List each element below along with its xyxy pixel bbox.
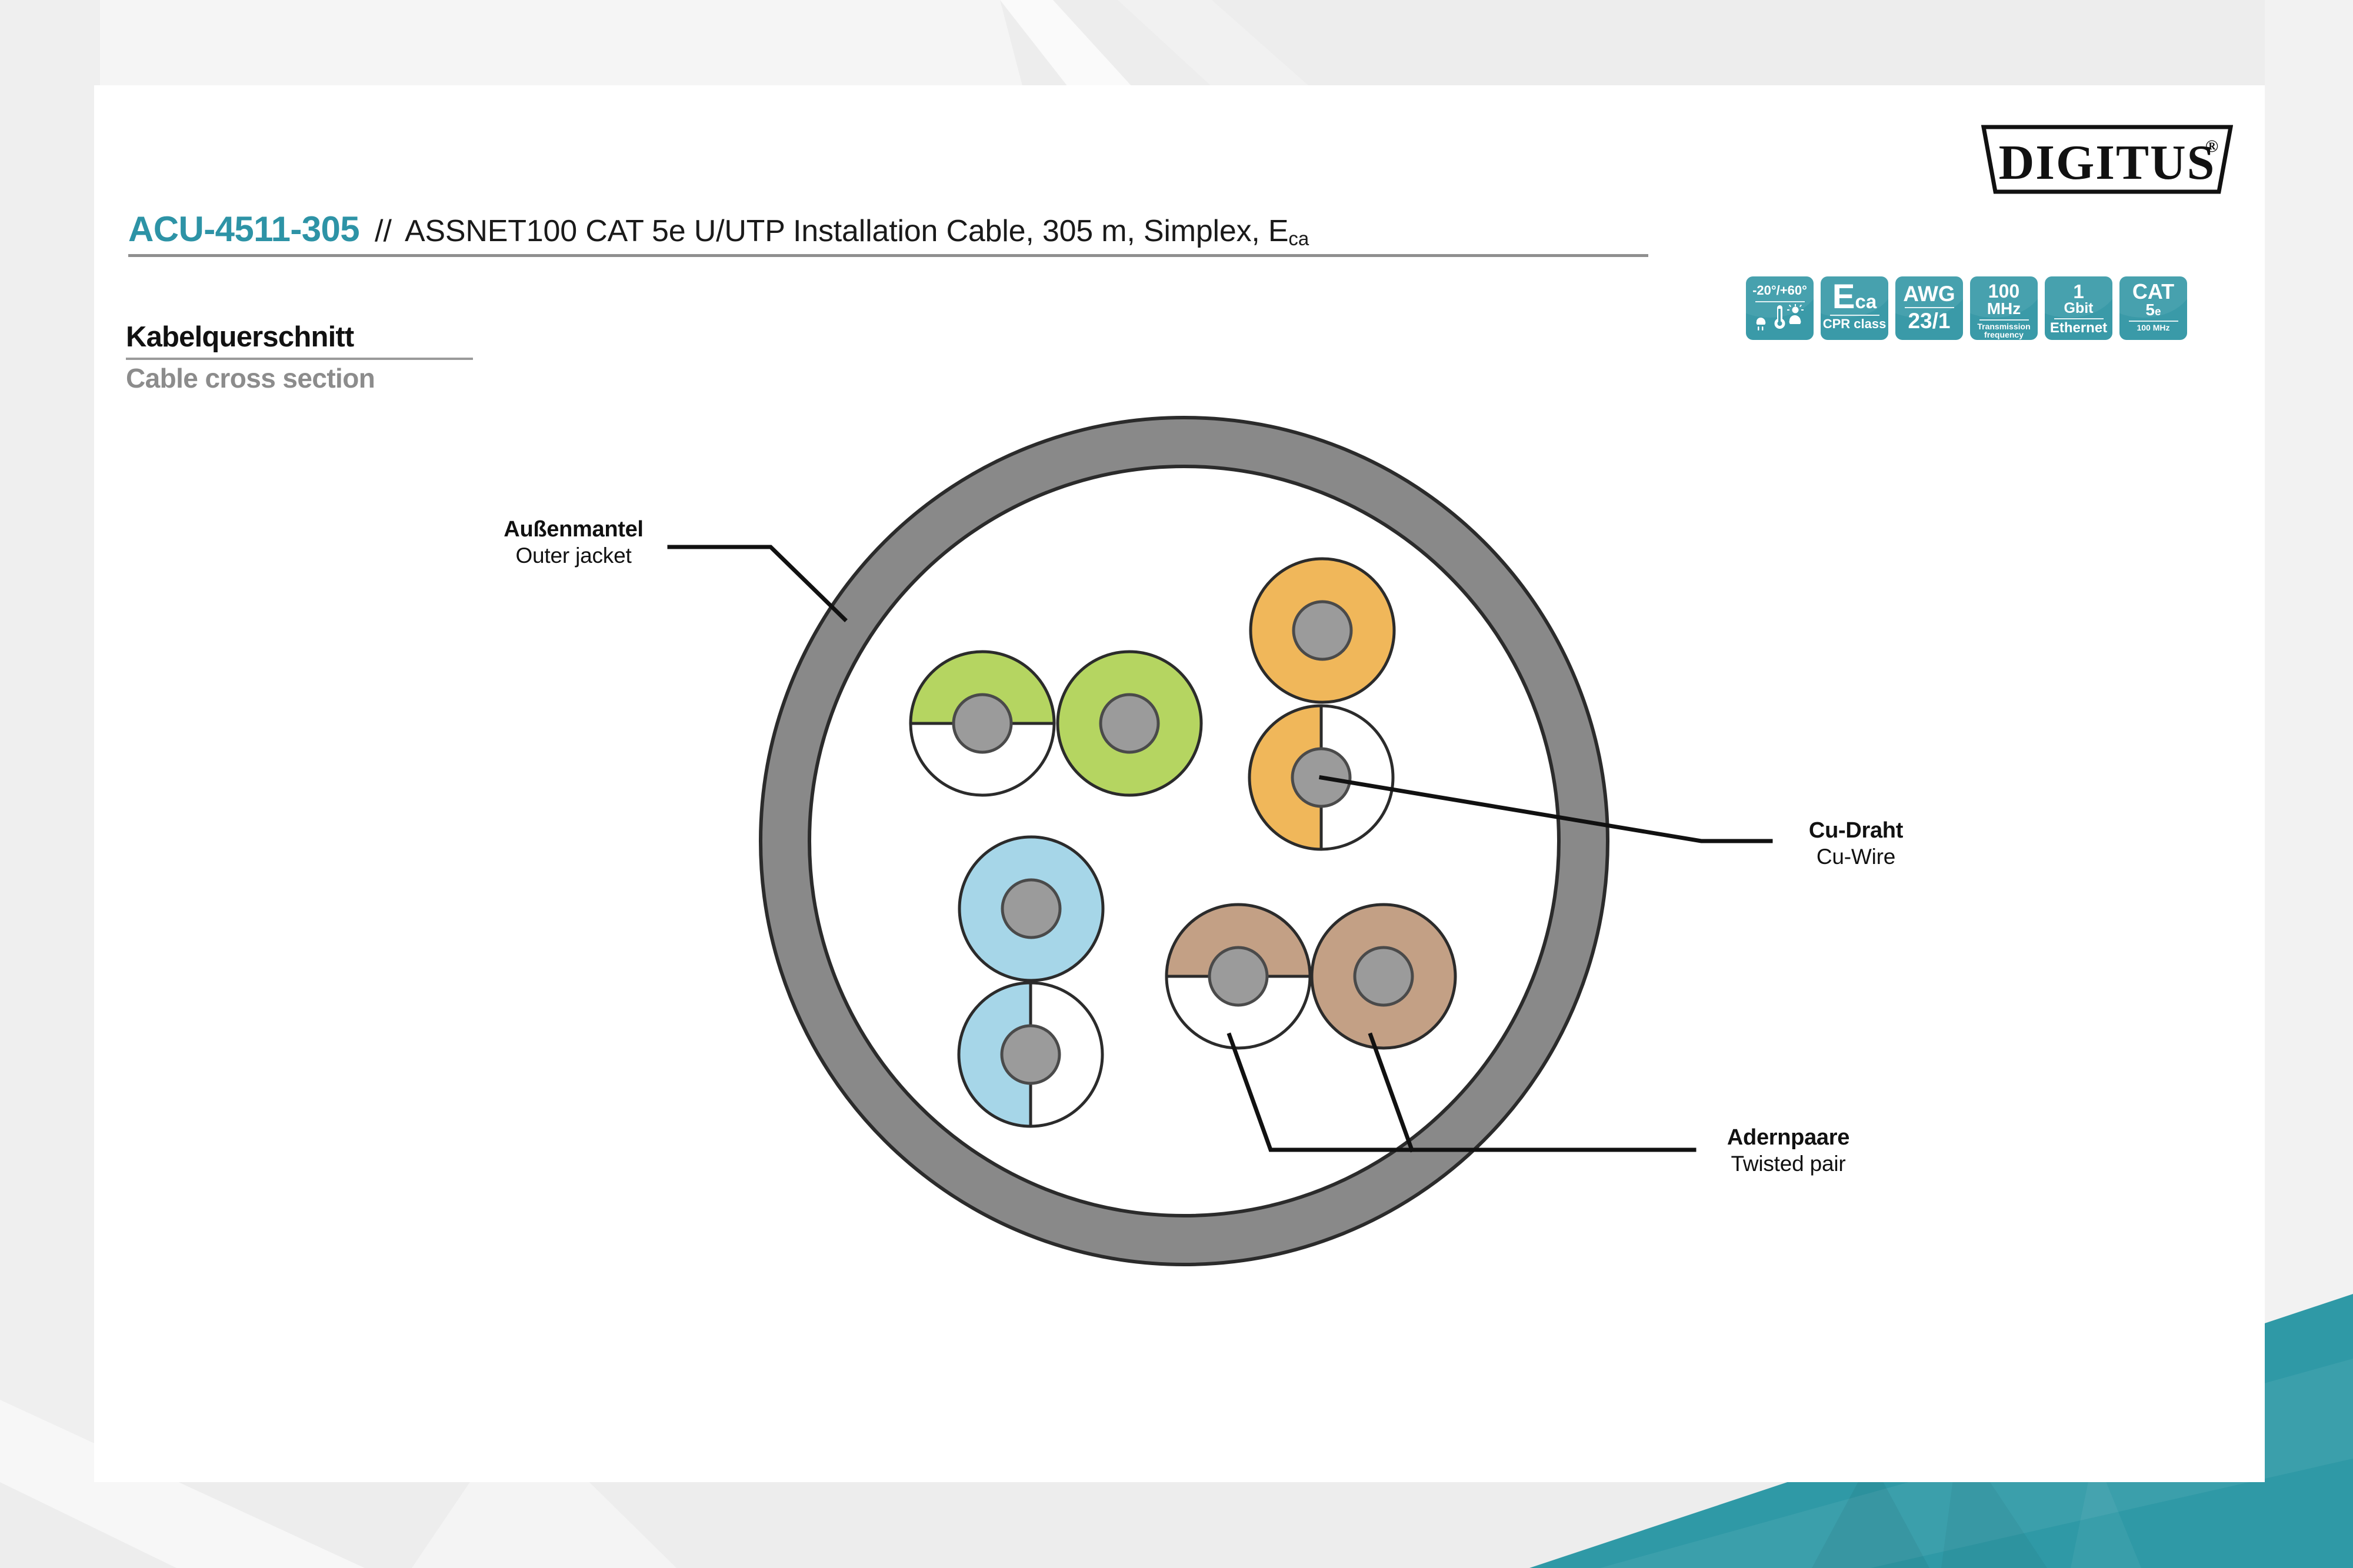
badge-frequency-value: 100 MHz — [1970, 276, 2038, 317]
product-description-subscript: ca — [1288, 228, 1309, 249]
callout-twisted-pair: Adernpaare Twisted pair — [1700, 1125, 1877, 1176]
badge-divider — [2054, 318, 2104, 319]
badge-cpr-subscript: ca — [1855, 291, 1877, 312]
badge-category-number: 5e — [2119, 302, 2187, 318]
product-sku: ACU-4511-305 — [128, 209, 359, 249]
sun-cloud-icon — [1787, 304, 1804, 324]
badge-divider — [1755, 301, 1805, 302]
title-separator: // — [375, 213, 392, 249]
badge-ethernet-unit: Gbit — [2045, 301, 2112, 316]
section-heading: Kabelquerschnitt Cable cross section — [126, 322, 473, 393]
badge-category-label: CAT — [2119, 282, 2187, 302]
badge-temperature-value: -20°/+60° — [1746, 276, 1814, 297]
spec-badge-row: -20°/+60° — [1746, 276, 2187, 340]
badge-divider — [1830, 315, 1879, 316]
badge-temperature: -20°/+60° — [1746, 276, 1814, 340]
badge-ethernet-number: 1 — [2045, 282, 2112, 301]
badge-category-value: CAT 5e — [2119, 276, 2187, 318]
badge-awg-value: 23/1 — [1895, 310, 1963, 332]
title-underline — [128, 254, 1648, 257]
badge-cpr-value: Eca — [1821, 276, 1888, 312]
digitus-logo: DIGITUS ® — [1981, 125, 2233, 194]
callout-cu-wire: Cu-Draht Cu-Wire — [1782, 818, 1929, 869]
badge-frequency-label: Transmission frequency — [1970, 322, 2038, 339]
badge-frequency-unit: MHz — [1970, 301, 2038, 317]
badge-awg: AWG 23/1 — [1895, 276, 1963, 340]
badge-cpr-letter: E — [1832, 278, 1855, 316]
product-description: ASSNET100 CAT 5e U/UTP Installation Cabl… — [405, 213, 1309, 250]
registered-trademark-icon: ® — [2205, 136, 2218, 156]
thermometer-icon — [1774, 305, 1785, 329]
badge-category: CAT 5e 100 MHz — [2119, 276, 2187, 340]
section-heading-de: Kabelquerschnitt — [126, 322, 473, 352]
callout-cu-wire-en: Cu-Wire — [1782, 844, 1929, 870]
snowflake-icon — [1756, 318, 1765, 331]
badge-divider — [1905, 307, 1954, 308]
callout-outer-jacket-en: Outer jacket — [476, 543, 671, 569]
badge-frequency: 100 MHz Transmission frequency — [1970, 276, 2038, 340]
logo-wordmark: DIGITUS — [1999, 135, 2216, 190]
callout-outer-jacket: Außenmantel Outer jacket — [476, 516, 671, 568]
badge-frequency-number: 100 — [1970, 282, 2038, 301]
section-heading-rule — [126, 358, 473, 360]
callout-twisted-pair-de: Adernpaare — [1700, 1125, 1877, 1151]
page-title: ACU-4511-305 // ASSNET100 CAT 5e U/UTP I… — [128, 209, 1309, 250]
callout-cu-wire-de: Cu-Draht — [1782, 818, 1929, 844]
badge-ethernet-label: Ethernet — [2045, 321, 2112, 335]
badge-ethernet-value: 1 Gbit — [2045, 276, 2112, 316]
badge-temperature-icons — [1746, 304, 1814, 333]
badge-awg-label: AWG — [1895, 276, 1963, 305]
product-description-main: ASSNET100 CAT 5e U/UTP Installation Cabl… — [405, 214, 1288, 248]
badge-divider — [1979, 319, 2029, 321]
badge-ethernet: 1 Gbit Ethernet — [2045, 276, 2112, 340]
callout-outer-jacket-de: Außenmantel — [476, 516, 671, 543]
badge-cpr-label: CPR class — [1821, 318, 1888, 331]
badge-cpr-class: Eca CPR class — [1821, 276, 1888, 340]
badge-divider — [2129, 321, 2178, 322]
callout-twisted-pair-en: Twisted pair — [1700, 1151, 1877, 1177]
badge-category-sublabel: 100 MHz — [2119, 323, 2187, 332]
section-heading-en: Cable cross section — [126, 364, 473, 392]
